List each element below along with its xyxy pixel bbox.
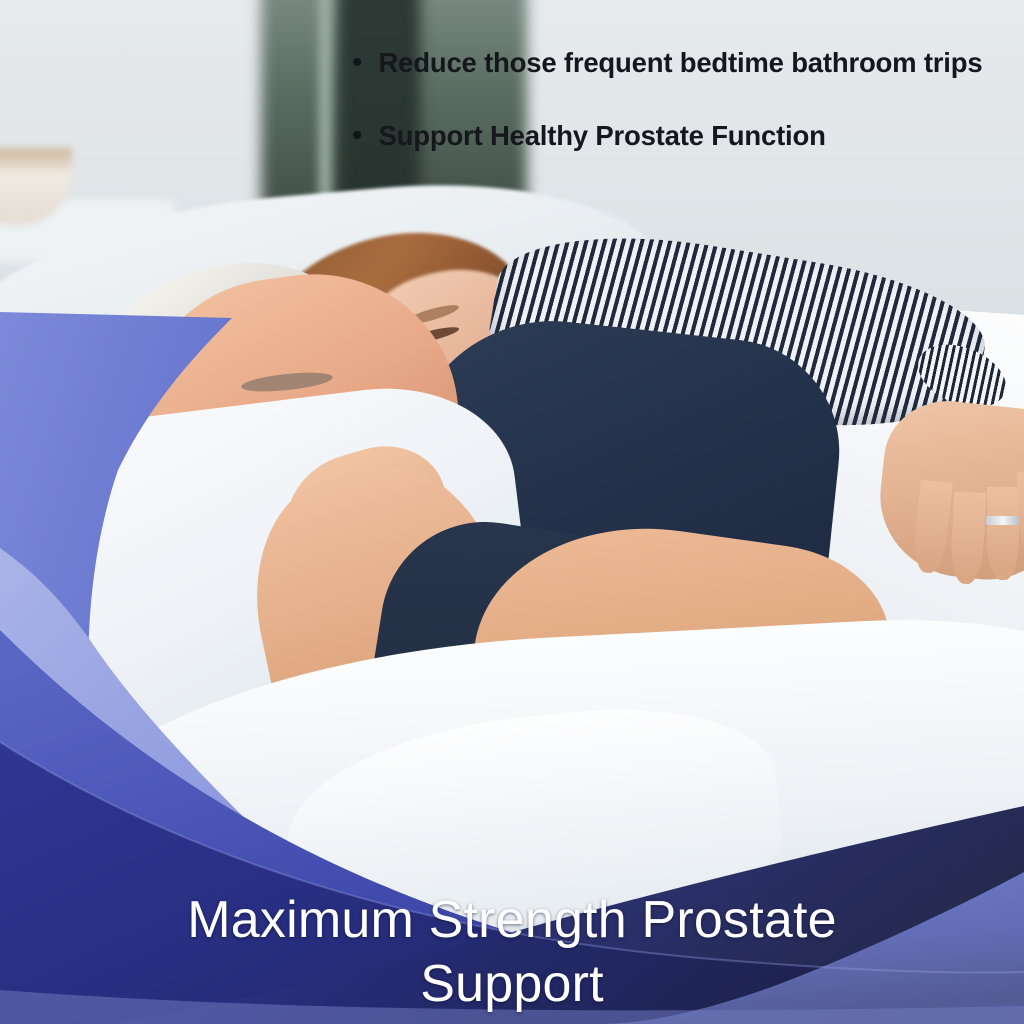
product-banner: • Reduce those frequent bedtime bathroom… — [0, 0, 1024, 1024]
benefit-bullet-text: Support Healthy Prostate Function — [379, 117, 826, 155]
woman-finger — [987, 487, 1019, 579]
bullet-marker-icon: • — [352, 44, 363, 82]
benefit-bullet-list: • Reduce those frequent bedtime bathroom… — [352, 44, 1024, 190]
benefit-bullet-item: • Reduce those frequent bedtime bathroom… — [352, 44, 1024, 82]
product-headline: Maximum Strength Prostate Support — [0, 888, 1024, 1016]
benefit-bullet-item: • Support Healthy Prostate Function — [352, 117, 1024, 155]
headline-line-1: Maximum Strength Prostate — [110, 888, 914, 952]
benefit-bullet-text: Reduce those frequent bedtime bathroom t… — [379, 44, 983, 82]
bullet-marker-icon: • — [352, 117, 363, 155]
wedding-ring — [986, 516, 1020, 525]
headline-line-2: Support — [110, 952, 914, 1016]
